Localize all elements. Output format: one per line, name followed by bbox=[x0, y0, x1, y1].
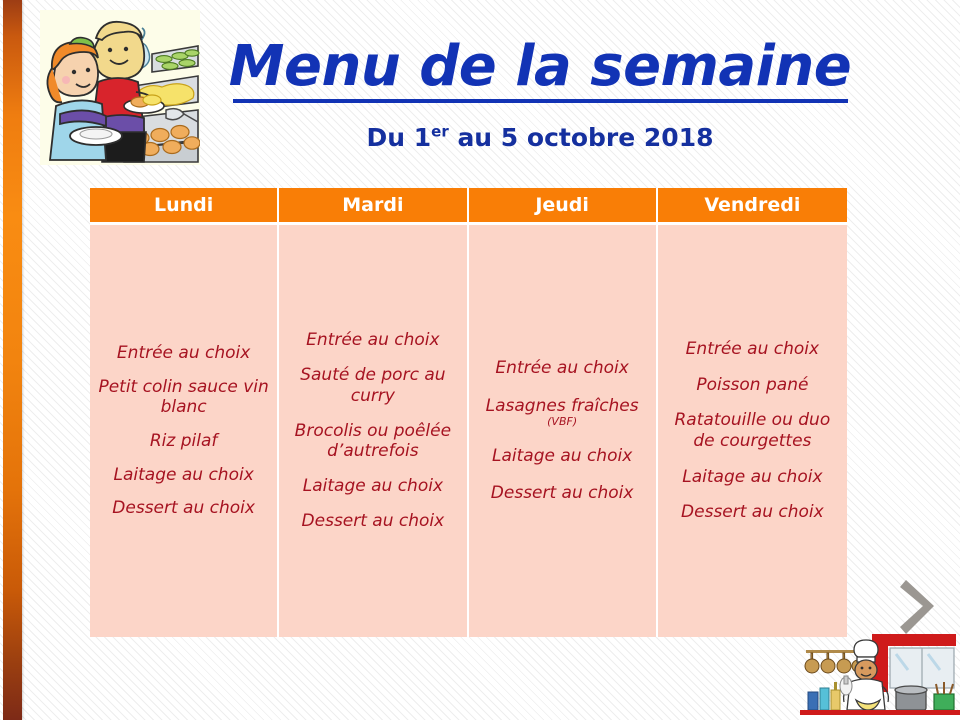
day-header-jeudi: Jeudi bbox=[469, 188, 658, 225]
dish-item: Laitage au choix bbox=[96, 465, 271, 486]
page-title: Menu de la semaine bbox=[215, 38, 865, 97]
dish-item: Entrée au choix bbox=[96, 343, 271, 364]
dish-item: Poisson pané bbox=[664, 375, 841, 396]
dish-item: Entrée au choix bbox=[475, 358, 650, 379]
title-underline bbox=[233, 99, 848, 103]
subtitle-ordinal: er bbox=[431, 122, 449, 140]
dish-item: Laitage au choix bbox=[664, 467, 841, 488]
day-header-vendredi: Vendredi bbox=[658, 188, 847, 225]
subtitle-suffix: au 5 octobre 2018 bbox=[449, 123, 714, 152]
dish-item: Entrée au choix bbox=[285, 330, 460, 351]
dish-note: (VBF) bbox=[475, 415, 650, 428]
dish-item: Ratatouille ou duo de courgettes bbox=[664, 410, 841, 451]
day-header-lundi: Lundi bbox=[90, 188, 279, 225]
dish-item: Dessert au choix bbox=[96, 498, 271, 519]
chef-kitchen-clipart bbox=[800, 628, 960, 720]
slide-canvas: Menu de la semaine Du 1er au 5 octobre 2… bbox=[0, 0, 960, 720]
dish-item: Laitage au choix bbox=[285, 476, 460, 497]
dish-item: Entrée au choix bbox=[664, 339, 841, 360]
menu-row: Entrée au choix Petit colin sauce vin bl… bbox=[90, 225, 847, 637]
dish-item: Petit colin sauce vin blanc bbox=[96, 377, 271, 418]
dish-main-text: Lasagnes fraîches bbox=[486, 396, 639, 416]
cafeteria-clipart-image bbox=[40, 10, 200, 165]
menu-cell-jeudi: Entrée au choix Lasagnes fraîches(VBF) L… bbox=[469, 225, 658, 637]
dish-item: Sauté de porc au curry bbox=[285, 365, 460, 406]
date-range-subtitle: Du 1er au 5 octobre 2018 bbox=[215, 123, 865, 152]
day-header-mardi: Mardi bbox=[279, 188, 468, 225]
dish-item: Dessert au choix bbox=[664, 502, 841, 523]
menu-cell-lundi: Entrée au choix Petit colin sauce vin bl… bbox=[90, 225, 279, 637]
dish-item: Lasagnes fraîches(VBF) bbox=[475, 396, 650, 429]
left-accent-bar bbox=[3, 0, 22, 720]
menu-cell-mardi: Entrée au choix Sauté de porc au curry B… bbox=[279, 225, 468, 637]
dish-item: Laitage au choix bbox=[475, 446, 650, 467]
dish-item: Dessert au choix bbox=[285, 511, 460, 532]
menu-cell-vendredi: Entrée au choix Poisson pané Ratatouille… bbox=[658, 225, 847, 637]
subtitle-prefix: Du 1 bbox=[367, 123, 432, 152]
dish-item: Dessert au choix bbox=[475, 483, 650, 504]
dish-item: Brocolis ou poêlée d’autrefois bbox=[285, 421, 460, 462]
title-block: Menu de la semaine Du 1er au 5 octobre 2… bbox=[215, 38, 865, 152]
weekly-menu-table: Lundi Mardi Jeudi Vendredi Entrée au cho… bbox=[90, 188, 847, 637]
table-header-row: Lundi Mardi Jeudi Vendredi bbox=[90, 188, 847, 225]
dish-item: Riz pilaf bbox=[96, 431, 271, 452]
